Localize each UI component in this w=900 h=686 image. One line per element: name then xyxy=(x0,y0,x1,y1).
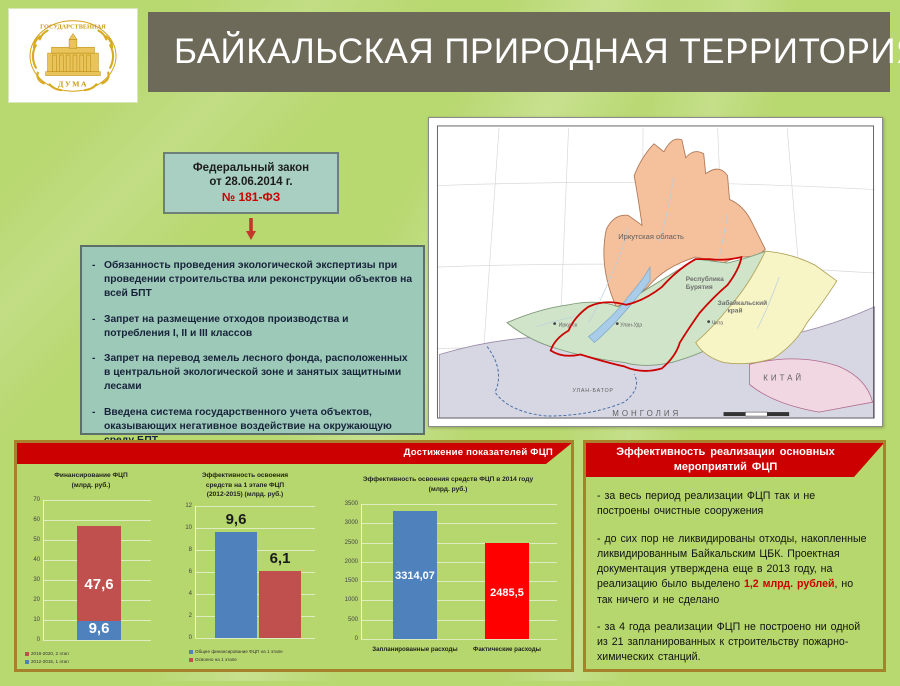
chart-2014-spending: Эффективность освоения средств ФЦП в 201… xyxy=(325,464,571,670)
bar-total-funding-stage1: 9,6 xyxy=(215,532,257,638)
federal-law-box: Федеральный закон от 28.06.2014 г. № 181… xyxy=(163,152,339,214)
effectiveness-body: - за весь период реализации ФЦП так и не… xyxy=(586,477,883,686)
legend-swatch-icon xyxy=(25,660,29,664)
bar-label-stage-2: 47,6 xyxy=(84,576,113,593)
chart-title: Эффективность освоения средств ФЦП в 201… xyxy=(325,464,571,494)
svg-text:Республика: Республика xyxy=(686,275,724,283)
law-provisions-list: Обязанность проведения экологической экс… xyxy=(90,259,413,448)
effectiveness-panel: Эффективность реализации основных меропр… xyxy=(583,440,886,672)
baikal-territory-map: Иркутская область Республика Бурятия Заб… xyxy=(428,117,883,427)
law-line-2: от 28.06.2014 г. xyxy=(209,175,292,190)
effectiveness-banner-text: Эффективность реализации основных меропр… xyxy=(608,445,860,475)
bar-label-planned-expenses: 3314,07 xyxy=(395,570,435,582)
legend-label: 2012-2015, 1 этап xyxy=(31,658,69,666)
page-title: БАЙКАЛЬСКАЯ ПРИРОДНАЯ ТЕРРИТОРИЯ xyxy=(174,32,900,72)
bar-label-actual-expenses: 2485,5 xyxy=(490,587,524,599)
bar-label-spent-stage1: 6,1 xyxy=(270,550,291,567)
list-item: Запрет на размещение отходов производств… xyxy=(90,313,413,341)
law-line-1: Федеральный закон xyxy=(193,161,309,176)
law-number: № 181-ФЗ xyxy=(222,190,281,205)
legend-swatch-icon xyxy=(189,650,193,654)
effectiveness-paragraph-3: - за 4 года реализации ФЦП не построено … xyxy=(597,620,872,666)
paragraph-2-highlight: 1,2 млрд. рублей xyxy=(744,578,835,590)
legend-swatch-icon xyxy=(189,658,193,662)
chart-funding-fcp: Финансирование ФЦП (млрд. руб.) 70 60 50… xyxy=(17,464,165,670)
charts-panel-banner-text: Достижение показателей ФЦП xyxy=(404,447,553,458)
chart-plot-area: 70 60 50 40 30 20 10 0 xyxy=(43,500,151,640)
map-label-mongolia: МОНГОЛИЯ xyxy=(612,409,681,418)
legend-label: Общее финансирование ФЦП на 1 этапе xyxy=(195,648,283,656)
bar-label-stage-1: 9,6 xyxy=(89,620,110,637)
charts-panel-banner: Достижение показателей ФЦП xyxy=(17,443,571,464)
map-label-ulaanbaatar: УЛАН-БАТОР xyxy=(573,388,614,394)
duma-emblem: ГОСУДАРСТВЕННАЯ ДУМА xyxy=(8,8,138,103)
legend-item: 2012-2015, 1 этап xyxy=(25,658,69,666)
emblem-top-text: ГОСУДАРСТВЕННАЯ xyxy=(40,23,106,30)
law-provisions-box: Обязанность проведения экологической экс… xyxy=(80,245,425,435)
chart-legend: 2016-2020, 2 этап 2012-2015, 1 этап xyxy=(25,650,69,667)
bar-stage-1: 9,6 xyxy=(77,621,121,640)
duma-emblem-icon: ГОСУДАРСТВЕННАЯ ДУМА xyxy=(14,12,132,100)
effectiveness-paragraph-1: - за весь период реализации ФЦП так и не… xyxy=(597,489,872,520)
bar-actual-expenses: 2485,5 xyxy=(485,543,529,639)
bar-planned-expenses: 3314,07 xyxy=(393,511,437,639)
xlabel-actual-expenses: Фактические расходы xyxy=(473,646,541,653)
chart-plot-area: 3500 3000 2500 2000 1500 1000 500 0 xyxy=(361,504,557,639)
list-item: Запрет на перевод земель лесного фонда, … xyxy=(90,352,413,395)
legend-item: 2016-2020, 2 этап xyxy=(25,650,69,658)
chart-stage1-efficiency: Эффективность освоения средств на 1 этап… xyxy=(165,464,325,670)
map-scalebar xyxy=(724,412,790,416)
charts-row: Финансирование ФЦП (млрд. руб.) 70 60 50… xyxy=(17,464,571,670)
map-label-ulan-ude: Улан-Удэ xyxy=(620,323,642,329)
legend-item: Освоено на 1 этапе xyxy=(189,656,283,664)
effectiveness-banner: Эффективность реализации основных меропр… xyxy=(586,443,883,477)
map-graphic: Иркутская область Республика Бурятия Заб… xyxy=(429,118,882,426)
emblem-bottom-text: ДУМА xyxy=(58,79,88,88)
list-item: Обязанность проведения экологической экс… xyxy=(90,259,413,302)
arrow-down-icon xyxy=(246,218,256,240)
chart-title: Финансирование ФЦП (млрд. руб.) xyxy=(17,464,165,490)
bar-spent-stage1: 6,1 xyxy=(259,571,301,638)
map-label-chita: Чита xyxy=(712,321,724,327)
effectiveness-paragraph-2: - до сих пор не ликвидированы отходы, на… xyxy=(597,532,872,608)
legend-item: Общее финансирование ФЦП на 1 этапе xyxy=(189,648,283,656)
map-label-china: КИТАЙ xyxy=(763,373,804,382)
bar-label-total-funding-stage1: 9,6 xyxy=(226,511,247,528)
chart-legend: Общее финансирование ФЦП на 1 этапе Осво… xyxy=(189,648,283,665)
legend-label: Освоено на 1 этапе xyxy=(195,656,237,664)
map-label-irkutsk: Иркутск xyxy=(559,323,578,329)
legend-swatch-icon xyxy=(25,652,29,656)
title-bar: БАЙКАЛЬСКАЯ ПРИРОДНАЯ ТЕРРИТОРИЯ xyxy=(148,12,890,92)
slide-root: ГОСУДАРСТВЕННАЯ ДУМА БАЙКАЛЬСКАЯ ПРИРОДН… xyxy=(0,0,900,681)
xlabel-planned-expenses: Запланированные расходы xyxy=(372,646,457,653)
chart-plot-area: 12 10 8 6 4 2 0 9,6 xyxy=(195,506,315,638)
map-label-irkutsk-oblast: Иркутская область xyxy=(618,232,684,241)
chart-title: Эффективность освоения средств на 1 этап… xyxy=(165,464,325,500)
svg-text:Бурятия: Бурятия xyxy=(686,284,713,291)
legend-label: 2016-2020, 2 этап xyxy=(31,650,69,658)
svg-text:край: край xyxy=(728,307,743,315)
svg-text:Забайкальский: Забайкальский xyxy=(718,299,768,307)
charts-panel: Достижение показателей ФЦП Финансировани… xyxy=(14,440,574,672)
